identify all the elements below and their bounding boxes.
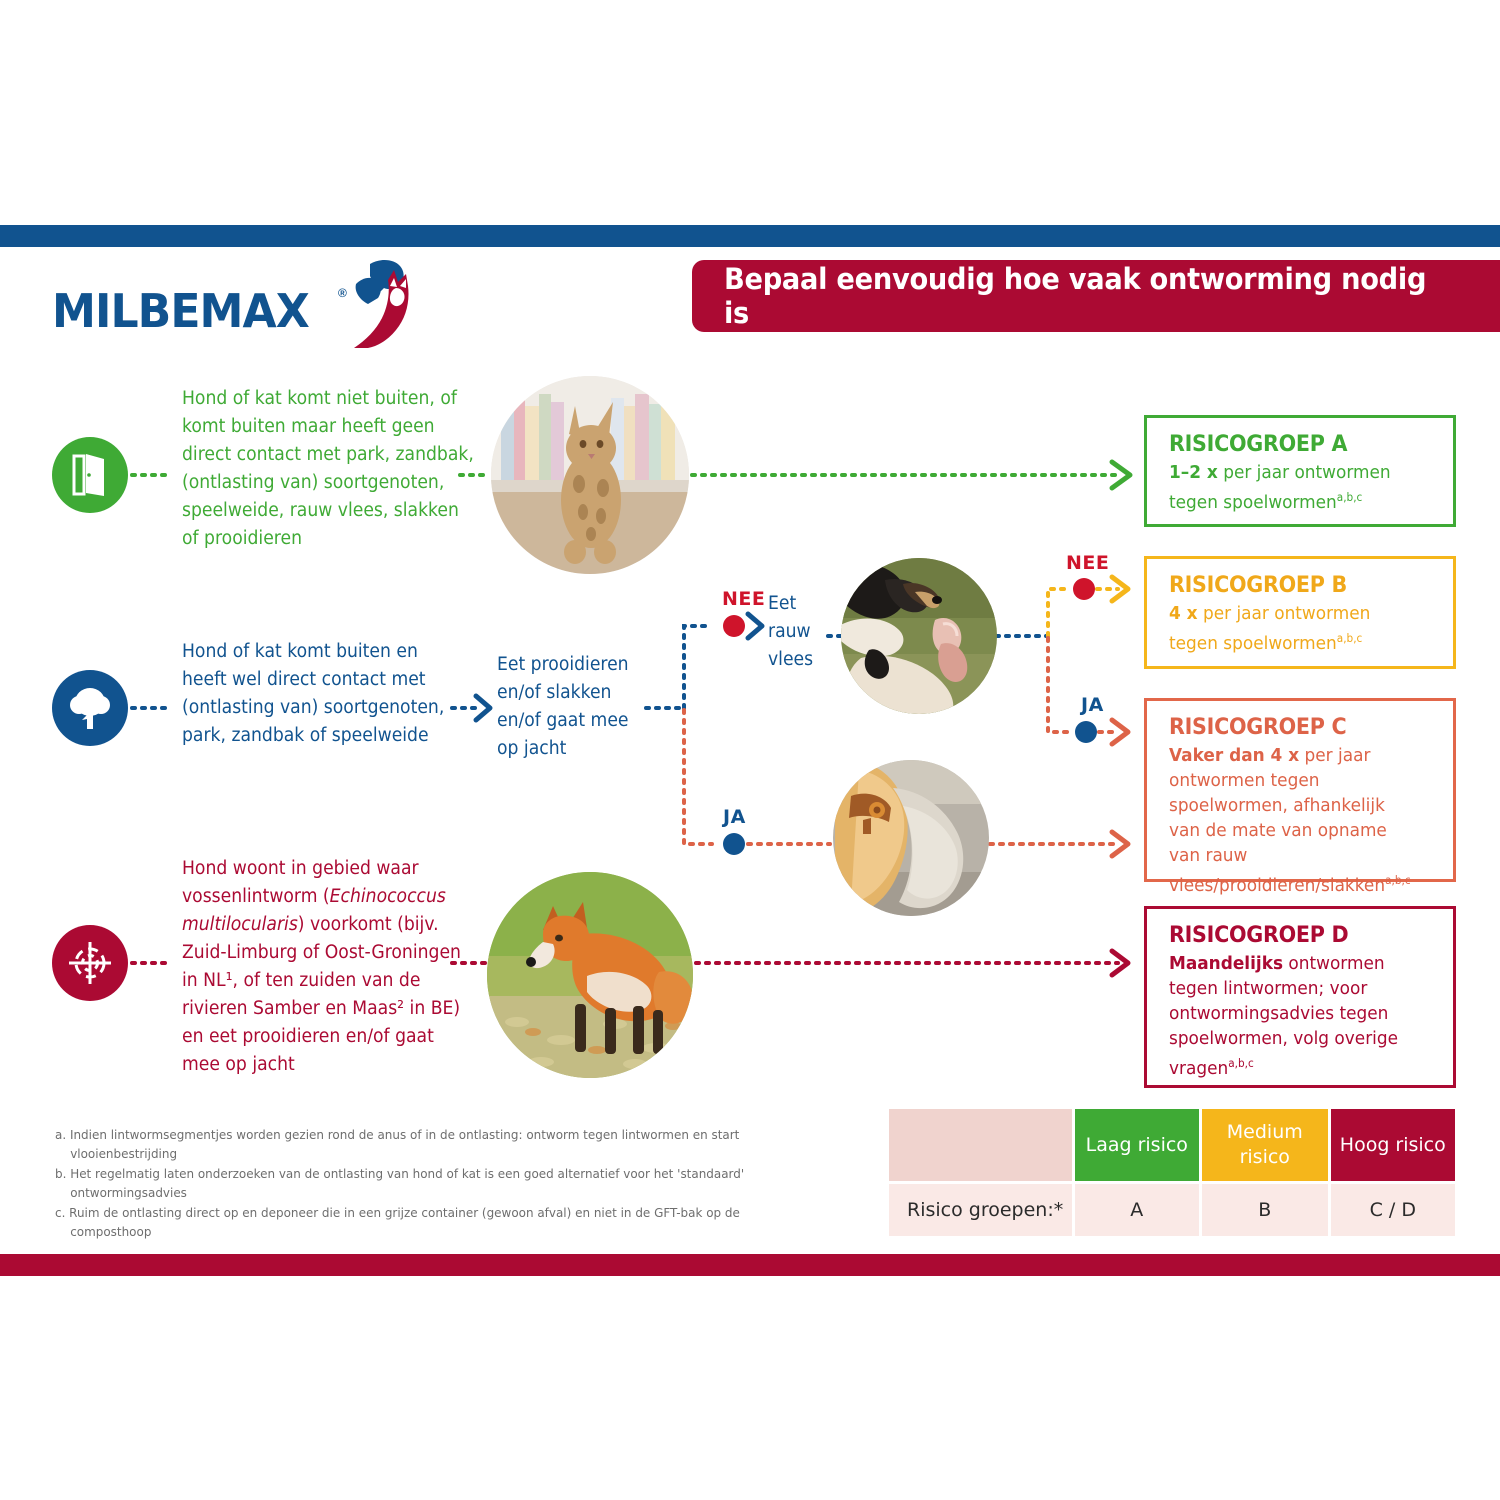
decision-node-ja-prey xyxy=(723,833,745,855)
question-1-text: Hond of kat komt niet buiten, of komt bu… xyxy=(182,385,480,553)
risk-table-header-blank xyxy=(889,1109,1072,1181)
bottom-red-bar xyxy=(0,1254,1500,1276)
footnote-b: b. Het regelmatig laten onderzoeken van … xyxy=(55,1164,758,1202)
q3-post: ) voorkomt (bijv. Zuid-Limburg of Oost-G… xyxy=(182,914,461,1075)
risk-table-header-high: Hoog risico xyxy=(1331,1109,1455,1181)
risk-group-c-title: RISICOGROEP C xyxy=(1169,715,1421,740)
risk-group-a-box: RISICOGROEP A 1–2 x per jaar ontwormen t… xyxy=(1144,415,1456,527)
dog-raw-meat-photo xyxy=(841,558,997,714)
fox-photo xyxy=(487,872,693,1078)
risk-group-c-frequency: Vaker dan 4 x xyxy=(1169,745,1299,766)
risk-group-c-rest: per jaar ontwormen tegen spoelwormen, af… xyxy=(1169,745,1387,896)
decision-node-nee-group-b xyxy=(1073,578,1095,600)
branch-label-ja-prey: JA xyxy=(723,806,746,828)
risk-group-b-desc: 4 x per jaar ontwormen tegen spoelwormen… xyxy=(1169,601,1421,656)
risk-legend-table: Laag risico Medium risico Hoog risico Ri… xyxy=(886,1106,1458,1239)
risk-group-d-frequency: Maandelijks xyxy=(1169,953,1283,974)
footnote-c: c. Ruim de ontlasting direct op en depon… xyxy=(55,1203,758,1241)
risk-group-c-footnote-ref: a,b,c xyxy=(1385,874,1411,887)
dog-with-prey-photo xyxy=(833,760,989,916)
risk-group-b-rest: per jaar ontwormen tegen spoelwormen xyxy=(1169,603,1370,654)
risk-group-b-frequency: 4 x xyxy=(1169,603,1198,624)
footnotes: a. Indien lintwormsegmentjes worden gezi… xyxy=(55,1125,758,1242)
risk-table-cell-high: C / D xyxy=(1331,1184,1455,1236)
header-banner: Bepaal eenvoudig hoe vaak ontworming nod… xyxy=(692,260,1500,332)
milbemax-logo: MILBEMAX ® xyxy=(52,258,412,350)
risk-table-cell-medium: B xyxy=(1202,1184,1328,1236)
logo-wordmark: MILBEMAX xyxy=(52,284,309,338)
risk-table-header-row: Laag risico Medium risico Hoog risico xyxy=(889,1109,1455,1181)
risk-group-c-box: RISICOGROEP C Vaker dan 4 x per jaar ont… xyxy=(1144,698,1456,882)
footnote-a: a. Indien lintwormsegmentjes worden gezi… xyxy=(55,1125,758,1163)
risk-table-body-row: Risico groepen:* A B C / D xyxy=(889,1184,1455,1236)
page-title: Bepaal eenvoudig hoe vaak ontworming nod… xyxy=(724,262,1453,330)
risk-group-a-frequency: 1–2 x xyxy=(1169,462,1218,483)
branch-label-ja-group-c: JA xyxy=(1081,694,1104,716)
question-2-text: Hond of kat komt buiten en heeft wel dir… xyxy=(182,638,461,750)
risk-group-a-desc: 1–2 x per jaar ontwormen tegen spoelworm… xyxy=(1169,460,1421,515)
logo-registered-mark: ® xyxy=(338,286,347,300)
risk-group-a-title: RISICOGROEP A xyxy=(1169,432,1421,457)
mid-question-text: Eet prooidieren en/of slakken en/of gaat… xyxy=(497,651,655,763)
cat-photo xyxy=(491,376,689,574)
branch-label-nee-raw-meat: NEE xyxy=(722,588,765,610)
risk-group-c-desc: Vaker dan 4 x per jaar ontwormen tegen s… xyxy=(1169,743,1421,898)
risk-group-d-footnote-ref: a,b,c xyxy=(1228,1057,1254,1070)
question-3-text: Hond woont in gebied waar vossenlintworm… xyxy=(182,855,461,1079)
infographic-page: MILBEMAX ® Bepaal eenvoudig hoe vaak ont… xyxy=(0,0,1500,1500)
risk-group-b-title: RISICOGROEP B xyxy=(1169,573,1421,598)
door-icon xyxy=(52,437,128,513)
milbemax-dog-cat-mark xyxy=(336,258,414,348)
risk-table-header-medium: Medium risico xyxy=(1202,1109,1328,1181)
risk-table-header-low: Laag risico xyxy=(1075,1109,1199,1181)
risk-group-b-box: RISICOGROEP B 4 x per jaar ontwormen teg… xyxy=(1144,556,1456,669)
risk-group-d-desc: Maandelijks ontwormen tegen lintwormen; … xyxy=(1169,951,1421,1081)
risk-group-b-footnote-ref: a,b,c xyxy=(1337,632,1363,645)
top-blue-bar xyxy=(0,225,1500,247)
risk-group-d-title: RISICOGROEP D xyxy=(1169,923,1421,948)
risk-group-d-box: RISICOGROEP D Maandelijks ontwormen tege… xyxy=(1144,906,1456,1088)
branch-label-nee-group-b: NEE xyxy=(1066,552,1109,574)
raw-meat-question-text: Eet rauw vlees xyxy=(768,590,826,674)
risk-group-a-footnote-ref: a,b,c xyxy=(1337,491,1363,504)
tree-icon xyxy=(52,670,128,746)
risk-table-row-label: Risico groepen:* xyxy=(889,1184,1072,1236)
target-icon xyxy=(52,925,128,1001)
risk-table-cell-low: A xyxy=(1075,1184,1199,1236)
decision-node-nee-raw-meat xyxy=(723,615,745,637)
decision-node-ja-group-c xyxy=(1075,721,1097,743)
